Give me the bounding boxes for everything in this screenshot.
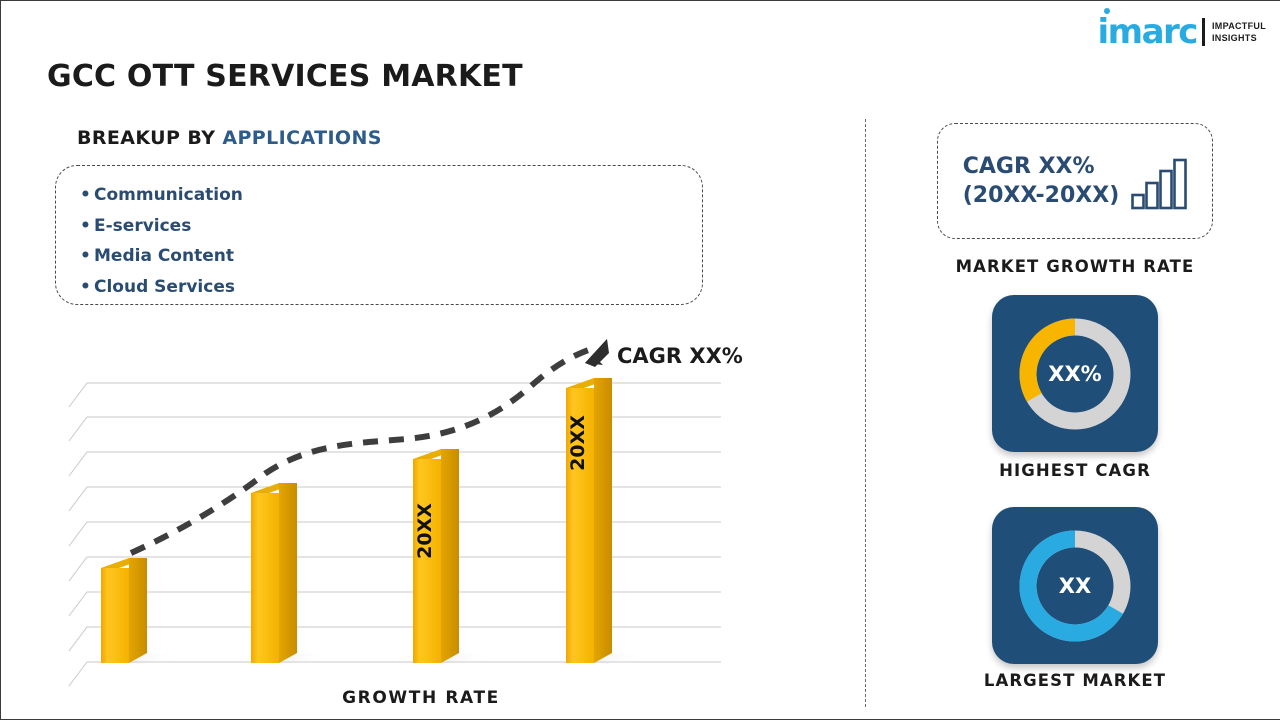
subtitle-accent: APPLICATIONS: [222, 127, 381, 149]
cagr-trend-line: [131, 339, 609, 553]
logo-tagline-line2: INSIGHTS: [1212, 32, 1266, 44]
cagr-box-text: CAGR XX% (20XX-20XX): [963, 152, 1120, 210]
logo-word-text: imarc: [1098, 12, 1197, 52]
list-item-label: Communication: [94, 185, 243, 205]
imarc-logo: imarc IMPACTFUL INSIGHTS: [1098, 11, 1266, 53]
growth-rate-bar-chart: 20XX 20XX CAGR XX% GROWTH RATE: [61, 331, 761, 720]
chart-x-axis-label: GROWTH RATE: [342, 688, 500, 708]
market-growth-rate-box: CAGR XX% (20XX-20XX): [937, 123, 1213, 239]
highest-cagr-label: HIGHEST CAGR: [937, 461, 1213, 480]
applications-list-box: •Communication •E-services •Media Conten…: [55, 165, 703, 305]
bar-4: 20XX: [566, 378, 612, 663]
list-item: •Communication: [80, 180, 702, 211]
cagr-annotation: CAGR XX%: [617, 344, 743, 368]
logo-wordmark: imarc: [1098, 15, 1197, 49]
bar-1: [101, 558, 147, 663]
list-item-label: E-services: [94, 216, 191, 236]
logo-divider: [1202, 18, 1205, 46]
highest-cagr-value: XX%: [1048, 362, 1101, 386]
bar-3-label: 20XX: [414, 503, 436, 559]
cagr-line-1: CAGR XX%: [963, 152, 1120, 181]
list-item-label: Media Content: [94, 246, 234, 266]
list-item-label: Cloud Services: [94, 277, 235, 297]
bar-chart-icon: [1131, 158, 1187, 210]
logo-dot-icon: [1104, 8, 1110, 14]
page-title: GCC OTT SERVICES MARKET: [47, 59, 523, 94]
bar-2: [251, 483, 297, 663]
market-growth-rate-label: MARKET GROWTH RATE: [937, 257, 1213, 276]
chart-svg: 20XX 20XX CAGR XX% GROWTH RATE: [61, 331, 761, 720]
bullet-marker: •: [80, 241, 94, 272]
largest-market-label: LARGEST MARKET: [937, 671, 1213, 690]
list-item: •Media Content: [80, 241, 702, 272]
section-subtitle: BREAKUP BY APPLICATIONS: [77, 127, 382, 149]
logo-tagline-line1: IMPACTFUL: [1212, 20, 1266, 32]
cagr-line-2: (20XX-20XX): [963, 181, 1120, 210]
largest-market-value: XX: [1059, 574, 1091, 598]
vertical-divider: [865, 119, 866, 707]
largest-market-card: XX: [992, 507, 1158, 664]
list-item: •Cloud Services: [80, 272, 702, 303]
highest-cagr-card: XX%: [992, 295, 1158, 452]
bullet-marker: •: [80, 211, 94, 242]
bar-4-label: 20XX: [567, 415, 589, 471]
logo-tagline: IMPACTFUL INSIGHTS: [1212, 20, 1266, 44]
list-item: •E-services: [80, 211, 702, 242]
bullet-marker: •: [80, 272, 94, 303]
subtitle-prefix: BREAKUP BY: [77, 127, 222, 149]
bar-3: 20XX: [413, 449, 459, 663]
bullet-marker: •: [80, 180, 94, 211]
